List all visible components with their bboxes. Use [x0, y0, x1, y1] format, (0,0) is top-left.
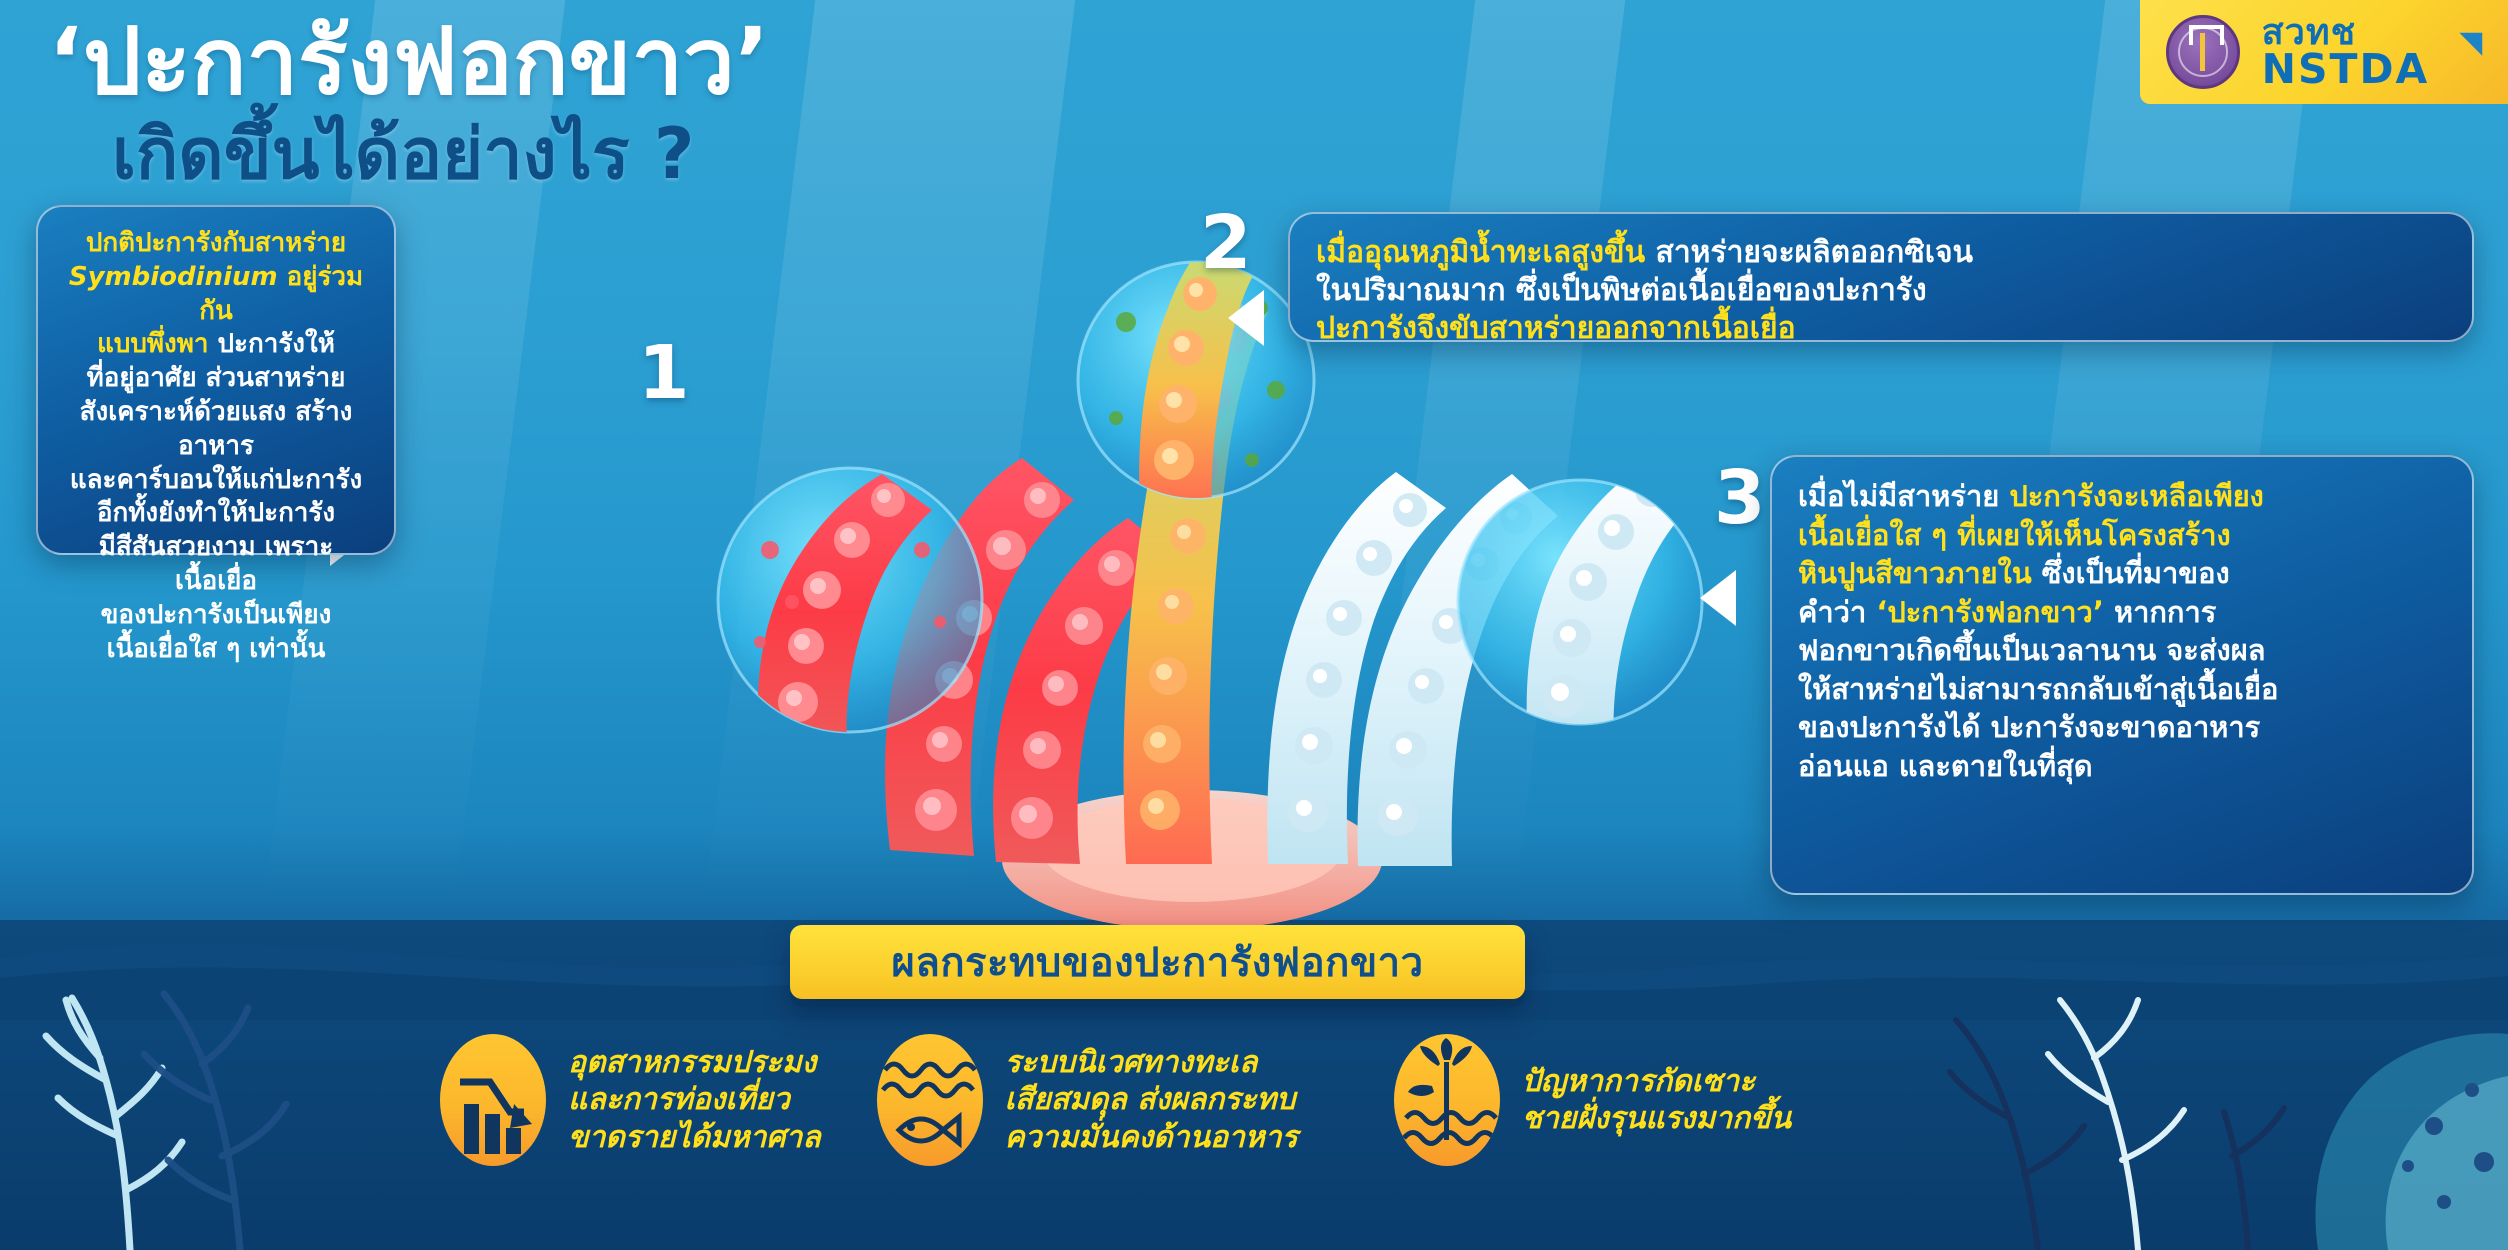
step3-line-8: อ่อนแอ และตายในที่สุด — [1798, 749, 2093, 783]
step3-line-6: ให้สาหร่ายไม่สามารถกลับเข้าสู่เนื้อเยื่อ — [1798, 672, 2278, 706]
impact-banner: ผลกระทบของปะการังฟอกขาว — [790, 925, 1525, 999]
step3-line-4b: ‘ปะการังฟอกขาว’ — [1876, 595, 2104, 629]
step3-line-4a: คำว่า — [1798, 595, 1876, 629]
page-title: ‘ปะการังฟอกขาว’ — [48, 14, 770, 111]
impact-item-fishery-text: อุตสาหกรรมประมง และการท่องเที่ยว ขาดรายไ… — [568, 1044, 821, 1156]
nstda-arrow-icon: ◥ — [2459, 25, 2482, 60]
step1-line-8: มีสีสันสวยงาม เพราะเนื้อเยื่อ — [99, 532, 333, 596]
step-box-2: เมื่ออุณหภูมิน้ำทะเลสูงขึ้น สาหร่ายจะผลิ… — [1288, 212, 2474, 342]
infographic-canvas: สวทช NSTDA ◥ ‘ปะการังฟอกขาว’ เกิดขึ้นได้… — [0, 0, 2508, 1250]
step3-line-3a: หินปูนสีขาวภายใน — [1798, 556, 2032, 590]
step-number-1: 1 — [638, 330, 690, 416]
declining-bar-chart-icon — [440, 1034, 546, 1166]
step1-line-4: ที่อยู่อาศัย ส่วนสาหร่าย — [87, 363, 346, 393]
step3-line-7: ของปะการังได้ ปะการังจะขาดอาหาร — [1798, 710, 2260, 744]
step2-line-2: ในปริมาณมาก ซึ่งเป็นพิษต่อเนื้อเยื่อของป… — [1316, 273, 1927, 308]
step3-line-5: ฟอกขาวเกิดขึ้นเป็นเวลานาน จะส่งผล — [1798, 633, 2265, 667]
step1-line-1: ปกติปะการังกับสาหร่าย — [86, 228, 346, 258]
nstda-logo-badge: สวทช NSTDA ◥ — [2140, 0, 2508, 104]
impact-list: อุตสาหกรรมประมง และการท่องเที่ยว ขาดรายไ… — [440, 1025, 2400, 1175]
step3-line-1b: ปะการังจะเหลือเพียง — [2009, 479, 2264, 513]
step2-line-1b: สาหร่ายจะผลิตออกซิเจน — [1645, 235, 1973, 270]
mangrove-erosion-icon — [1394, 1034, 1500, 1166]
step1-line-9: ของปะการังเป็นเพียง — [101, 600, 332, 630]
impact-item-fishery: อุตสาหกรรมประมง และการท่องเที่ยว ขาดรายไ… — [440, 1034, 821, 1166]
coral-bleaching-illustration — [640, 250, 1780, 940]
fish-waves-icon — [877, 1034, 983, 1166]
step2-line-1: เมื่ออุณหภูมิน้ำทะเลสูงขึ้น — [1316, 235, 1645, 270]
step3-line-1a: เมื่อไม่มีสาหร่าย — [1798, 479, 2009, 513]
zoom-circle-stressed — [1078, 250, 1314, 510]
step-box-1: ปกติปะการังกับสาหร่าย Symbiodinium อยู่ร… — [36, 205, 396, 555]
step1-line-7: อีกทั้งยังทำให้ปะการัง — [97, 498, 335, 528]
step3-line-3b: ซึ่งเป็นที่มาของ — [2032, 556, 2230, 590]
step1-line-6: และคาร์บอนให้แก่ปะการัง — [70, 465, 362, 495]
pointer-arrow-2 — [1228, 290, 1264, 346]
step2-line-3: ปะการังจึงขับสาหร่ายออกจากเนื้อเยื่อ — [1316, 311, 1796, 346]
step1-line-3b: ปะการังให้ — [208, 329, 334, 359]
step3-line-2: เนื้อเยื่อใส ๆ ที่เผยให้เห็นโครงสร้าง — [1798, 518, 2231, 552]
step-number-3: 3 — [1714, 455, 1766, 541]
step1-line-3: แบบพึ่งพา — [97, 329, 208, 359]
impact-item-erosion-text: ปัญหาการกัดเซาะ ชายฝั่งรุนแรงมากขึ้น — [1522, 1063, 1792, 1137]
impact-item-ecosystem: ระบบนิเวศทางทะเล เสียสมดุล ส่งผลกระทบ คว… — [877, 1034, 1298, 1166]
step1-species-name: Symbiodinium — [69, 262, 278, 292]
page-subtitle: เกิดขึ้นได้อย่างไร ? — [112, 118, 694, 192]
nstda-seal-icon — [2166, 15, 2240, 89]
step1-line-5: สังเคราะห์ด้วยแสง สร้างอาหาร — [80, 397, 353, 461]
step-number-2: 2 — [1200, 200, 1252, 286]
impact-item-erosion: ปัญหาการกัดเซาะ ชายฝั่งรุนแรงมากขึ้น — [1394, 1034, 1792, 1166]
step-box-3: เมื่อไม่มีสาหร่าย ปะการังจะเหลือเพียง เน… — [1770, 455, 2474, 895]
impact-item-ecosystem-text: ระบบนิเวศทางทะเล เสียสมดุล ส่งผลกระทบ คว… — [1005, 1044, 1298, 1156]
logo-english-text: NSTDA — [2262, 51, 2430, 89]
impact-banner-label: ผลกระทบของปะการังฟอกขาว — [891, 930, 1423, 994]
pointer-arrow-3 — [1700, 570, 1736, 626]
logo-thai-text: สวทช — [2262, 16, 2356, 49]
step3-line-4c: หากการ — [2104, 595, 2216, 629]
step1-line-10: เนื้อเยื่อใส ๆ เท่านั้น — [107, 634, 326, 664]
